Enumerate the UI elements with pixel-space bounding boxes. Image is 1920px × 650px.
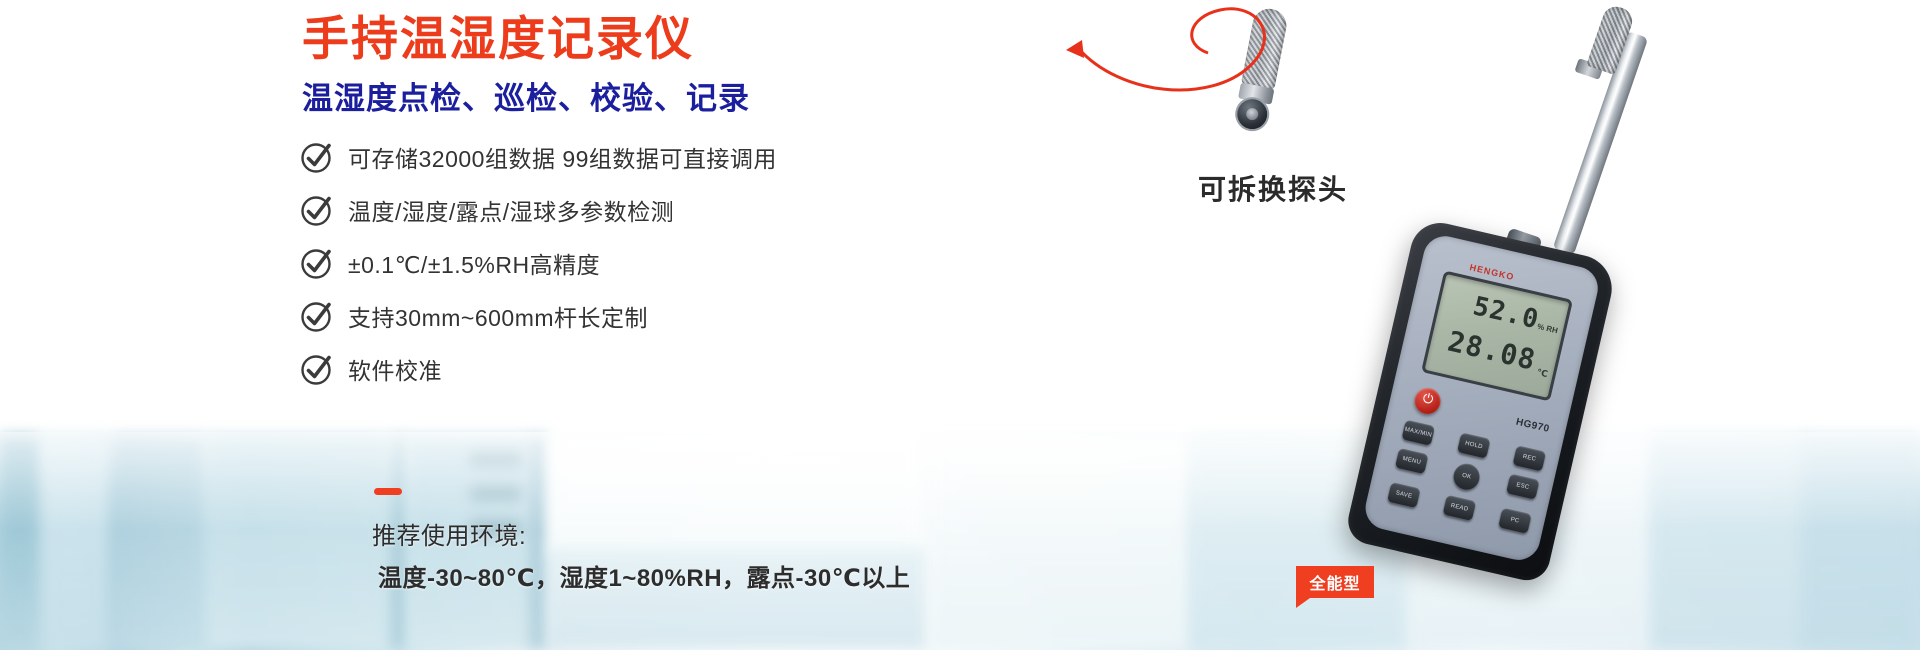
list-item-label: 支持30mm~600mm杆长定制	[348, 299, 648, 333]
key-ok[interactable]: OK	[1451, 461, 1482, 492]
circle-check-icon	[300, 246, 334, 280]
lcd-display: 52.0 % RH 28.08 ℃	[1421, 270, 1573, 401]
recommendation-title: 推荐使用环境:	[372, 516, 526, 551]
power-button[interactable]	[1412, 385, 1443, 416]
device-model: HG970	[1515, 417, 1551, 435]
humidity-reading: 52.0	[1470, 291, 1542, 335]
key-max-min[interactable]: MAX/MIN	[1401, 420, 1435, 446]
banner-stage: 手持温湿度记录仪 温湿度点检、巡检、校验、记录 可存储32000组数据 99组数…	[0, 0, 1920, 650]
probe-label: 可拆换探头	[1198, 168, 1348, 208]
keypad: MAX/MIN HOLD REC MENU OK ESC SAVE READ P…	[1385, 420, 1546, 543]
key-esc[interactable]: ESC	[1506, 473, 1540, 499]
key-save[interactable]: SAVE	[1387, 482, 1421, 508]
list-item: 可存储32000组数据 99组数据可直接调用	[300, 133, 777, 181]
background-veil	[0, 432, 1920, 650]
humidity-unit: % RH	[1536, 322, 1558, 335]
temperature-unit: ℃	[1536, 367, 1549, 380]
list-item-label: 可存储32000组数据 99组数据可直接调用	[348, 140, 777, 174]
key-pc[interactable]: PC	[1498, 508, 1532, 534]
key-hold[interactable]: HOLD	[1457, 432, 1491, 458]
circle-check-icon	[300, 140, 334, 174]
recommendation-dash	[374, 488, 402, 495]
list-item: 软件校准	[300, 345, 777, 393]
list-item: ±0.1℃/±1.5%RH高精度	[300, 239, 777, 287]
key-read[interactable]: READ	[1443, 495, 1477, 521]
list-item-label: ±0.1℃/±1.5%RH高精度	[348, 246, 600, 280]
status-badge: 全能型	[1296, 566, 1374, 598]
circle-check-icon	[300, 193, 334, 227]
list-item: 支持30mm~600mm杆长定制	[300, 292, 777, 340]
circle-check-icon	[300, 352, 334, 386]
feature-list: 可存储32000组数据 99组数据可直接调用 温度/湿度/露点/湿球多参数检测 …	[300, 133, 777, 398]
list-item: 温度/湿度/露点/湿球多参数检测	[300, 186, 777, 234]
circle-check-icon	[300, 299, 334, 333]
key-rec[interactable]: REC	[1512, 445, 1546, 471]
key-menu[interactable]: MENU	[1395, 448, 1429, 474]
recommendation-spec: 温度-30~80℃，湿度1~80%RH，露点-30℃以上	[378, 558, 910, 593]
page-title: 手持温湿度记录仪	[302, 12, 694, 66]
list-item-label: 温度/湿度/露点/湿球多参数检测	[348, 193, 674, 227]
page-subtitle: 温湿度点检、巡检、校验、记录	[302, 80, 750, 117]
list-item-label: 软件校准	[348, 352, 442, 386]
callout-arrow-icon	[1060, 0, 1320, 110]
